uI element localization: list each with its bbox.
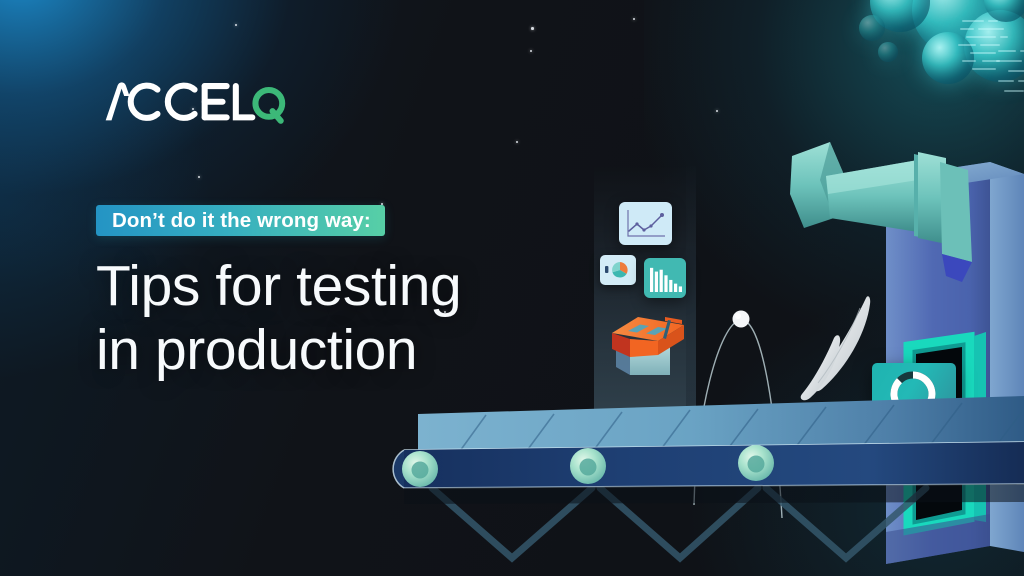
chart-bar (664, 275, 667, 292)
accelq-logo[interactable] (102, 80, 285, 124)
chart-bar (655, 272, 658, 292)
pie-chart-card (600, 255, 636, 285)
bubble (878, 42, 898, 62)
roller (570, 448, 606, 484)
eyebrow-banner: Don’t do it the wrong way: (96, 205, 385, 236)
chart-bar (679, 286, 682, 292)
star-dot (633, 18, 635, 20)
conveyor-belt (0, 392, 1024, 576)
star-dot (531, 27, 534, 30)
chart-bar (674, 284, 677, 292)
star-dot (716, 110, 718, 112)
chart-bar (669, 280, 672, 292)
star-dot (516, 141, 518, 143)
chart-bar (660, 270, 663, 292)
roller (738, 445, 774, 481)
roller (402, 451, 438, 487)
page-title: Tips for testing in production (96, 254, 461, 383)
slide-canvas: Don’t do it the wrong way: Tips for test… (0, 0, 1024, 576)
line-chart-card (619, 202, 672, 245)
star-dot (235, 24, 237, 26)
chart-bar (650, 268, 653, 292)
star-dot (530, 50, 532, 52)
star-dot (198, 176, 200, 178)
bar-chart-card (644, 258, 686, 298)
bubble (859, 15, 885, 41)
orange-machine (608, 311, 688, 377)
